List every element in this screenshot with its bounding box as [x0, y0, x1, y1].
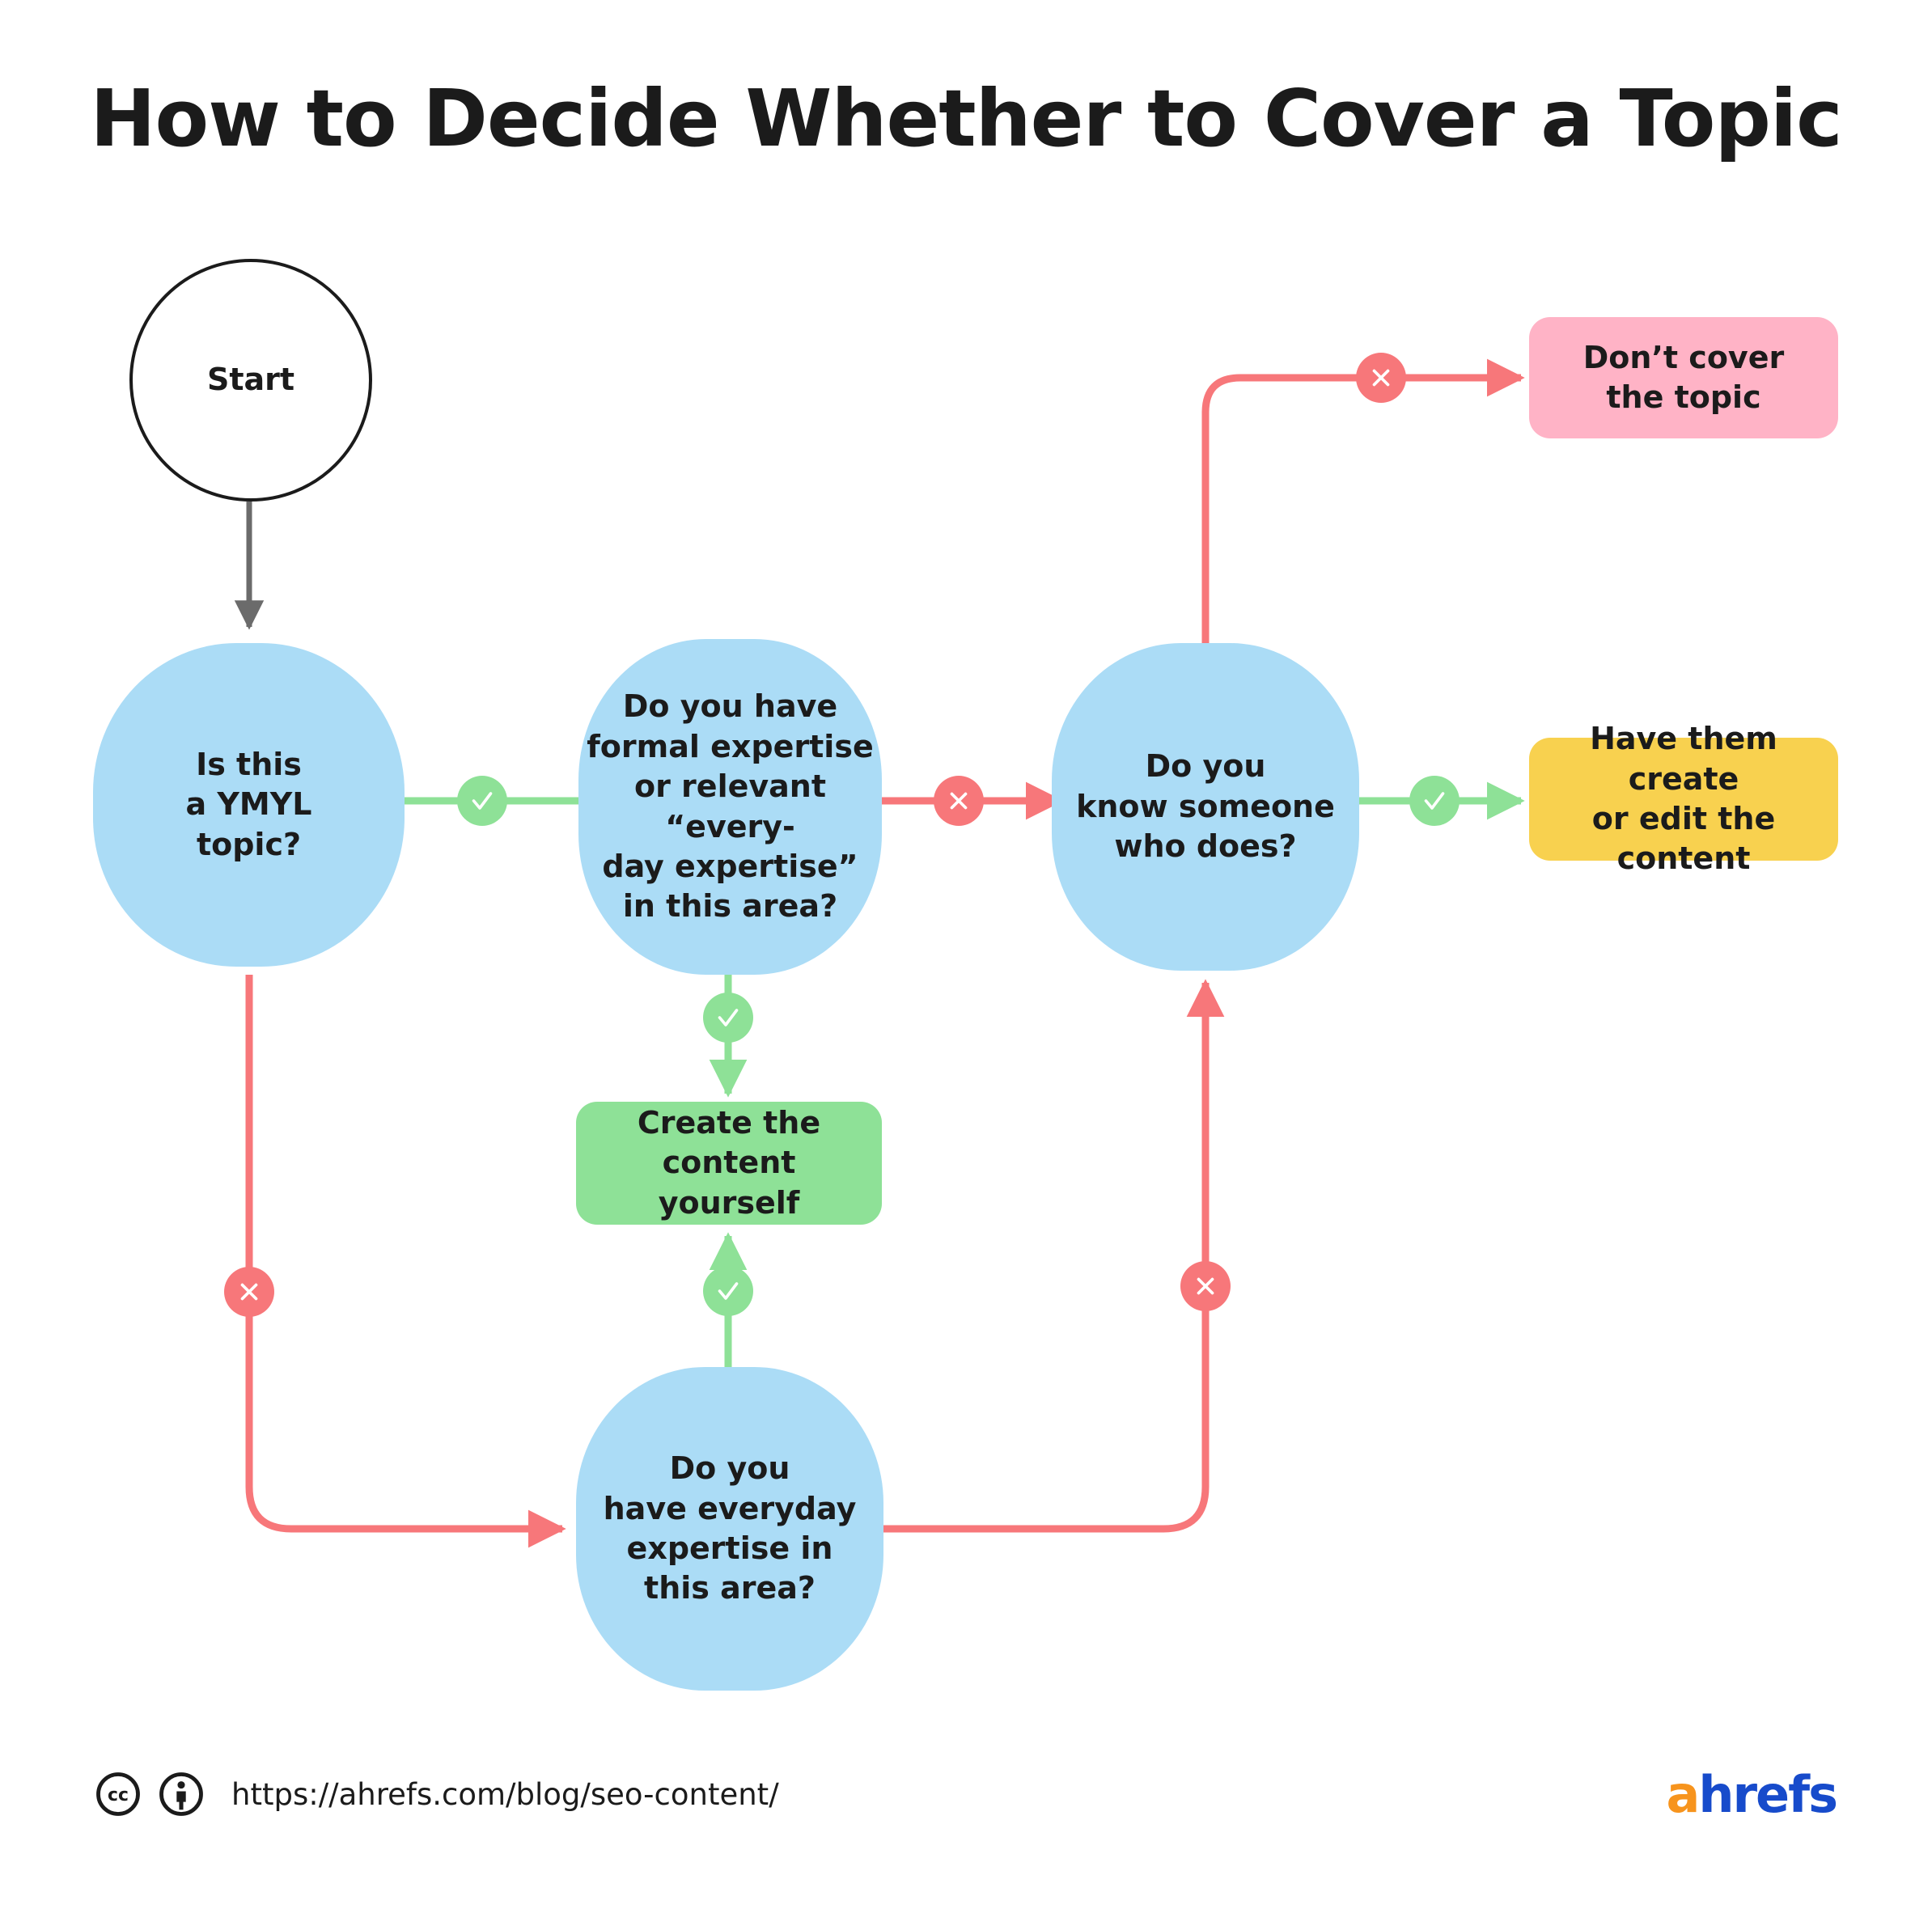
edge-knowsomeone-no: [1205, 378, 1521, 643]
edge-badge-yes-ymyl[interactable]: [457, 776, 507, 826]
edge-badge-no-everyday[interactable]: [1180, 1261, 1231, 1311]
edge-badge-no-formal[interactable]: [934, 776, 984, 826]
creative-commons-by-icon: [159, 1771, 204, 1817]
node-everyday-expertise-label: Do you have everyday expertise in this a…: [604, 1449, 857, 1609]
node-ymyl-label: Is this a YMYL topic?: [186, 745, 312, 865]
node-create-yourself[interactable]: Create the content yourself: [576, 1102, 882, 1225]
node-start-label: Start: [207, 360, 294, 400]
edge-badge-yes-formal-down[interactable]: [703, 993, 753, 1043]
check-icon: [714, 1276, 743, 1306]
edge-ymyl-no: [249, 975, 562, 1529]
node-create-yourself-label: Create the content yourself: [594, 1103, 864, 1223]
node-know-someone-label: Do you know someone who does?: [1076, 747, 1335, 866]
check-icon: [468, 786, 497, 815]
node-dont-cover-label: Don’t cover the topic: [1583, 338, 1784, 418]
logo-text-hrefs: hrefs: [1698, 1765, 1837, 1824]
node-dont-cover-topic[interactable]: Don’t cover the topic: [1529, 317, 1838, 438]
node-have-them-label: Have them create or edit the content: [1547, 719, 1820, 879]
cross-icon: [235, 1278, 263, 1306]
edge-everyday-no: [880, 983, 1205, 1529]
edge-badge-no-knowsomeone[interactable]: [1356, 353, 1406, 403]
svg-text:cc: cc: [108, 1785, 129, 1805]
cross-icon: [1367, 364, 1395, 392]
node-formal-expertise-label: Do you have formal expertise or relevant…: [578, 687, 882, 926]
node-formal-expertise-decision[interactable]: Do you have formal expertise or relevant…: [578, 639, 882, 975]
node-have-them-create[interactable]: Have them create or edit the content: [1529, 738, 1838, 861]
cross-icon: [1192, 1272, 1219, 1300]
node-everyday-expertise-decision[interactable]: Do you have everyday expertise in this a…: [576, 1367, 883, 1691]
check-icon: [714, 1003, 743, 1032]
node-know-someone-decision[interactable]: Do you know someone who does?: [1052, 643, 1359, 971]
node-ymyl-decision[interactable]: Is this a YMYL topic?: [93, 643, 405, 967]
edge-badge-yes-knowsomeone[interactable]: [1409, 776, 1460, 826]
ahrefs-logo[interactable]: ahrefs: [1667, 1765, 1837, 1824]
infographic-canvas: How to Decide Whether to Cover a Topic: [0, 0, 1932, 1909]
footer-url[interactable]: https://ahrefs.com/blog/seo-content/: [231, 1777, 779, 1812]
node-start[interactable]: Start: [129, 259, 372, 502]
cross-icon: [945, 787, 972, 815]
creative-commons-icon: cc: [95, 1771, 141, 1817]
check-icon: [1420, 786, 1449, 815]
footer-license: cc https://ahrefs.com/blog/seo-content/: [95, 1771, 779, 1817]
edge-badge-yes-everyday[interactable]: [703, 1266, 753, 1316]
edge-badge-no-ymyl[interactable]: [224, 1267, 274, 1317]
logo-letter-a: a: [1667, 1765, 1699, 1824]
